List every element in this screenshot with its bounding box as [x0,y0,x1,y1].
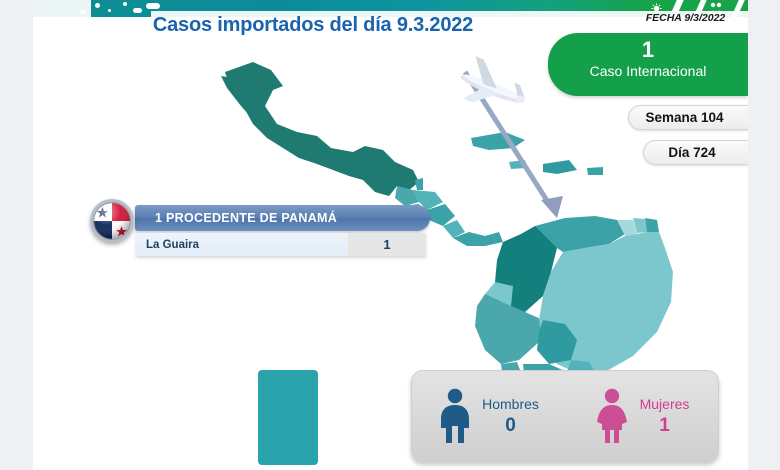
screenshot-root: Casos importados del día 9.3.2022 FECHA … [0,0,780,470]
day-pill: Día 724 [643,140,748,165]
country-belize [415,178,423,190]
country-frenchguiana [645,218,659,232]
female-stat-cell: Mujeres 1 [565,371,718,461]
female-label: Mujeres [640,394,690,414]
panama-flag-icon [90,199,134,243]
male-stat-cell: Hombres 0 [412,371,565,461]
content-canvas: Casos importados del día 9.3.2022 FECHA … [33,0,748,470]
table-row: La Guaira 1 [136,233,426,256]
sex-breakdown-panel: Hombres 0 Mujeres 1 [411,370,719,462]
international-case-count: 1 [548,33,748,63]
date-label: FECHA 9/3/2022 [623,12,748,24]
island-puertorico [587,167,603,175]
international-case-badge: 1 Caso Internacional [548,33,748,96]
male-label: Hombres [482,394,539,414]
origin-row-value: 1 [348,233,426,256]
airplane-icon [453,54,533,120]
page-title: Casos importados del día 9.3.2022 [33,14,593,37]
female-figure-icon [594,388,630,444]
male-figure-icon [438,388,472,444]
country-mexico [225,62,419,196]
island-hispaniola [543,160,577,174]
origin-panel-header: 1 PROCEDENTE DE PANAMÁ [135,205,430,231]
international-case-label: Caso Internacional [548,63,748,80]
week-pill: Semana 104 [628,105,748,130]
decorative-teal-tab [258,370,318,465]
female-count: 1 [640,414,690,438]
origin-panel: 1 PROCEDENTE DE PANAMÁ [90,199,430,261]
island-cuba [471,132,525,150]
origin-row-name: La Guaira [136,239,348,251]
male-count: 0 [482,414,539,438]
